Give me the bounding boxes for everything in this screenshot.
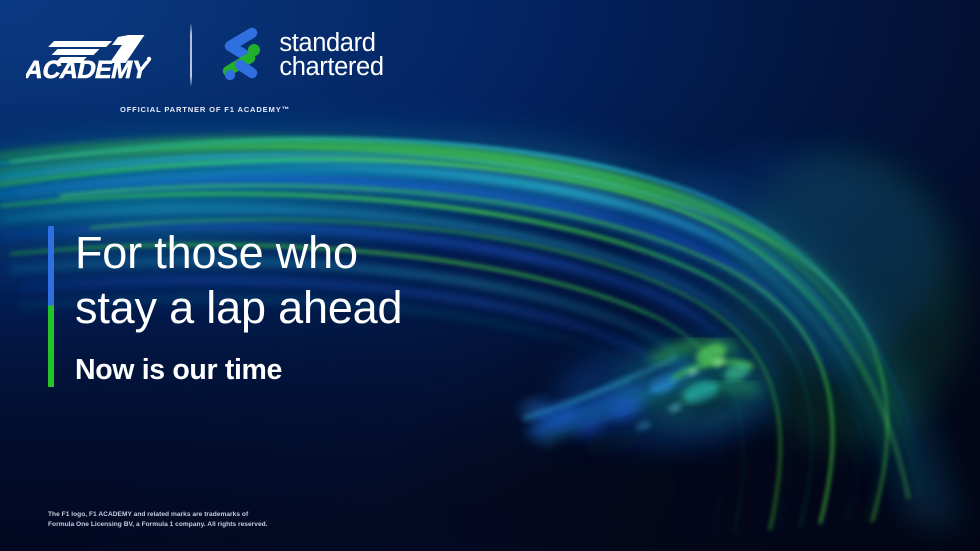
accent-bar: [48, 226, 54, 387]
headline-line-2: stay a lap ahead: [75, 281, 402, 336]
standard-chartered-wordmark: standard chartered: [279, 31, 383, 80]
hero-headline-block: For those who stay a lap ahead Now is ou…: [48, 226, 402, 387]
hero-text: For those who stay a lap ahead Now is ou…: [75, 226, 402, 387]
sc-wordmark-line2: chartered: [279, 55, 383, 79]
svg-text:ACADEMY: ACADEMY: [26, 56, 152, 84]
legal-line-2: Formula One Licensing BV, a Formula 1 co…: [48, 520, 268, 531]
headline-line-1: For those who: [75, 226, 402, 281]
race-car-motion-blur: [505, 300, 795, 500]
standard-chartered-logo: standard chartered: [218, 25, 383, 85]
f1-academy-standard-chartered-banner: ACADEMY: [0, 0, 980, 551]
logo-lockup-row: ACADEMY: [26, 22, 383, 88]
logo-lockup: ACADEMY: [0, 22, 410, 114]
f1-academy-logo: ACADEMY: [26, 25, 168, 85]
sc-wordmark-line1: standard: [279, 31, 383, 55]
lockup-divider: [190, 24, 192, 86]
standard-chartered-mark: [218, 25, 264, 85]
subheadline: Now is our time: [75, 354, 402, 387]
official-partner-text: OFFICIAL PARTNER OF F1 ACADEMY™: [120, 105, 290, 114]
legal-disclaimer: The F1 logo, F1 ACADEMY and related mark…: [48, 510, 268, 531]
legal-line-1: The F1 logo, F1 ACADEMY and related mark…: [48, 510, 268, 521]
